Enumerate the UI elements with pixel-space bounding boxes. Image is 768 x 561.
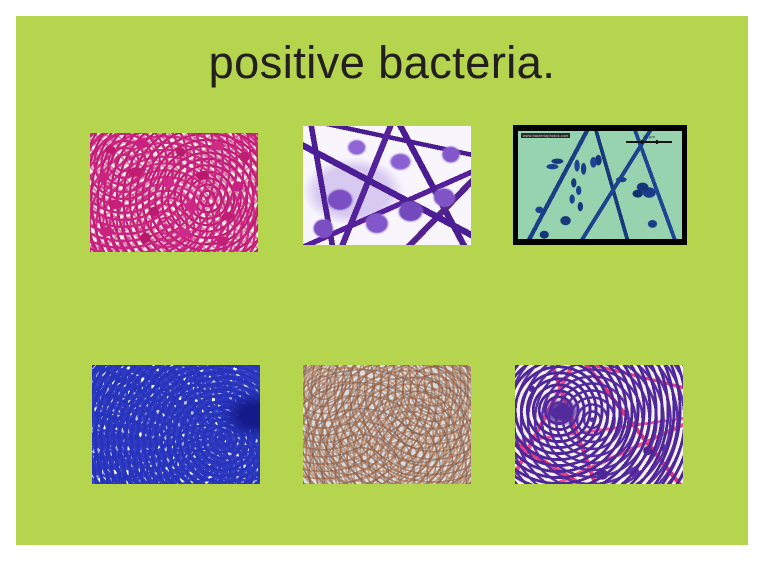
scale-bar-label: 10 µm [626, 135, 672, 139]
watermark-url: www.bacteriaphotos.com [521, 133, 570, 138]
figure-gram-stain-blue-cocci [92, 365, 260, 484]
page-title: positive bacteria. [16, 38, 748, 88]
figure-gram-stain-pink-cocci [90, 133, 258, 252]
presentation-slide: positive bacteria. www.bacteriaphotos.co… [16, 16, 748, 545]
slide-canvas: positive bacteria. www.bacteriaphotos.co… [0, 0, 768, 561]
figure-tissue-section-brown-dots [303, 365, 471, 484]
micrograph-field: www.bacteriaphotos.com 10 µm [518, 131, 682, 239]
figure-gram-stain-purple-bacilli-chains [303, 126, 471, 245]
scale-bar-group: 10 µm [626, 135, 672, 143]
scale-bar [626, 141, 672, 143]
figure-gram-stain-blue-rods-mint-field: www.bacteriaphotos.com 10 µm [513, 125, 687, 245]
figure-gram-stain-mixed-purple-cocci-pink-rods [515, 365, 683, 484]
